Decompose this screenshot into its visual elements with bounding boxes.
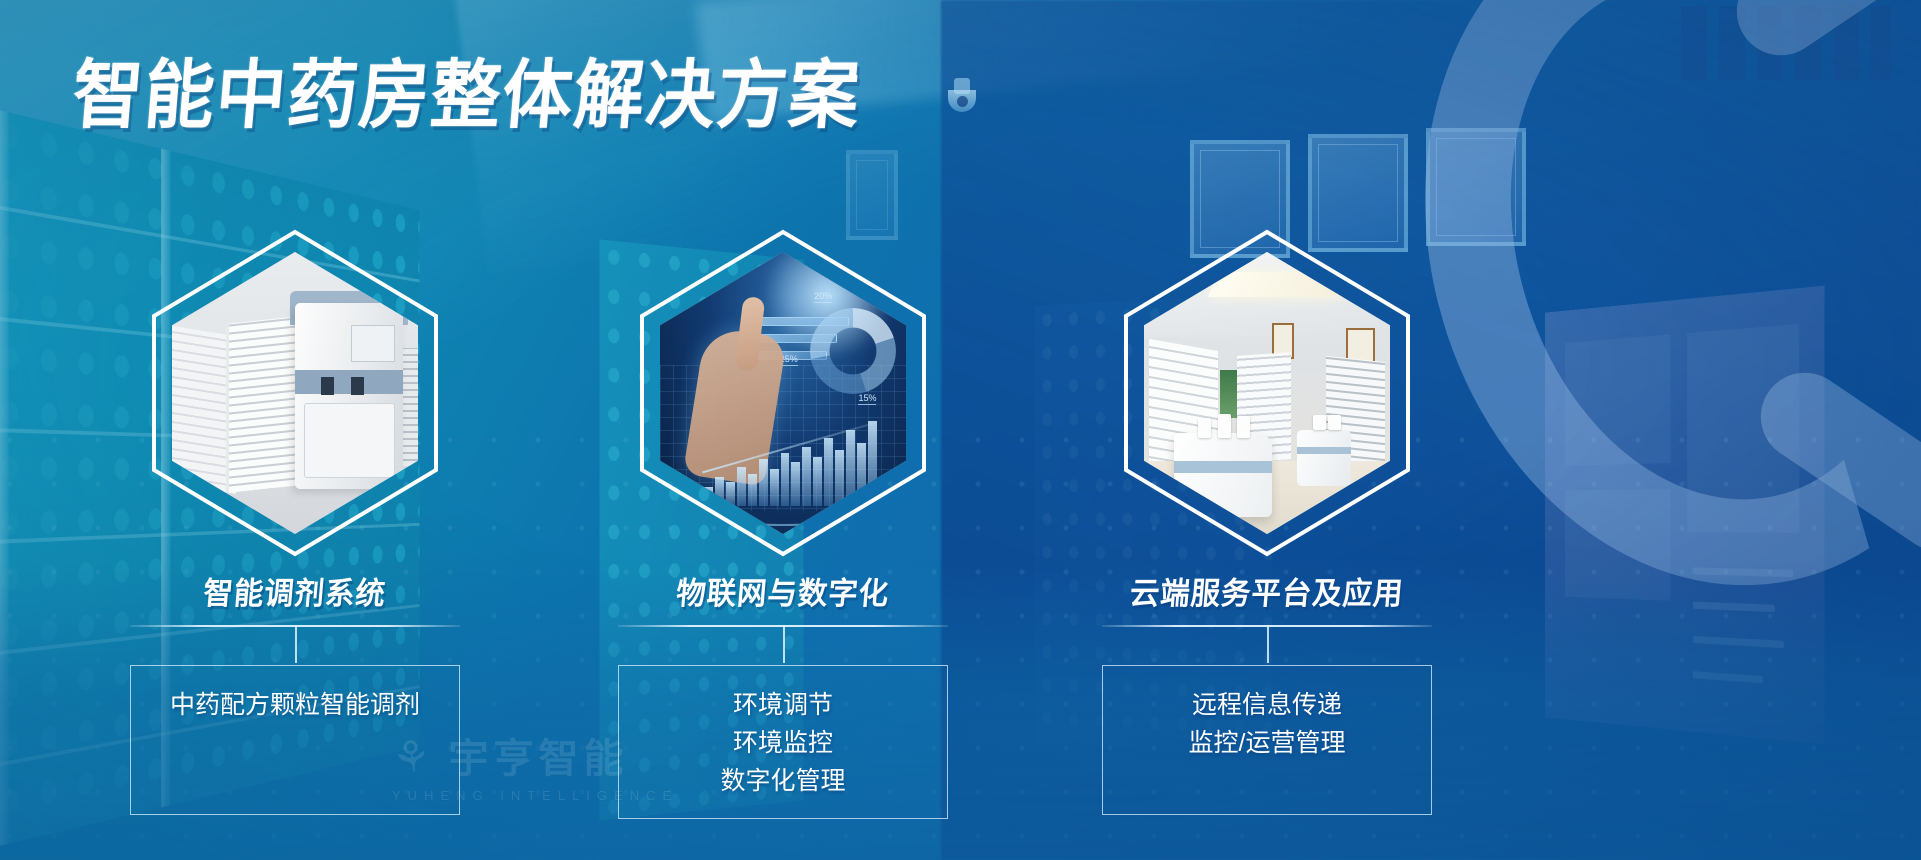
card-label-1: 智能调剂系统 [70,568,520,613]
card-infobox-1: 中药配方颗粒智能调剂 [130,665,460,815]
hex-frame-icon-2 [638,228,928,558]
card-tick-3 [1267,625,1269,663]
card-group: 智能调剂系统 中药配方颗粒智能调剂 [0,0,1921,860]
card-infobox-3: 远程信息传递 监控/运营管理 [1102,665,1432,815]
card-tick-2 [783,625,785,663]
hex-frame-icon-3 [1122,228,1412,558]
card-iot-digital[interactable]: 20% 25% 15% [548,228,1018,819]
hex-frame-icon-1 [150,228,440,558]
card-label-2: 物联网与数字化 [558,568,1008,613]
card-info-line: 环境监控 [733,724,833,762]
card-info-line: 中药配方颗粒智能调剂 [170,686,420,724]
card-info-line: 远程信息传递 [1192,686,1342,724]
card-info-line: 监控/运营管理 [1189,724,1346,762]
card-infobox-2: 环境调节 环境监控 数字化管理 [618,665,948,819]
card-rule-3 [1102,625,1432,627]
banner-stage: ⚘宇亨智能 YUHENG INTELLIGENCE 智能中药房整体解决方案 [0,0,1921,860]
hex-image-3 [1122,228,1412,558]
card-label-3: 云端服务平台及应用 [1042,568,1492,613]
card-info-line: 环境调节 [733,686,833,724]
card-tick-1 [295,625,297,663]
hex-image-2: 20% 25% 15% [638,228,928,558]
card-cloud-platform[interactable]: 云端服务平台及应用 远程信息传递 监控/运营管理 [1032,228,1502,815]
card-intelligent-dispensing[interactable]: 智能调剂系统 中药配方颗粒智能调剂 [60,228,530,815]
card-info-line: 数字化管理 [720,762,845,800]
card-rule-1 [130,625,460,627]
hex-image-1 [150,228,440,558]
card-rule-2 [618,625,948,627]
